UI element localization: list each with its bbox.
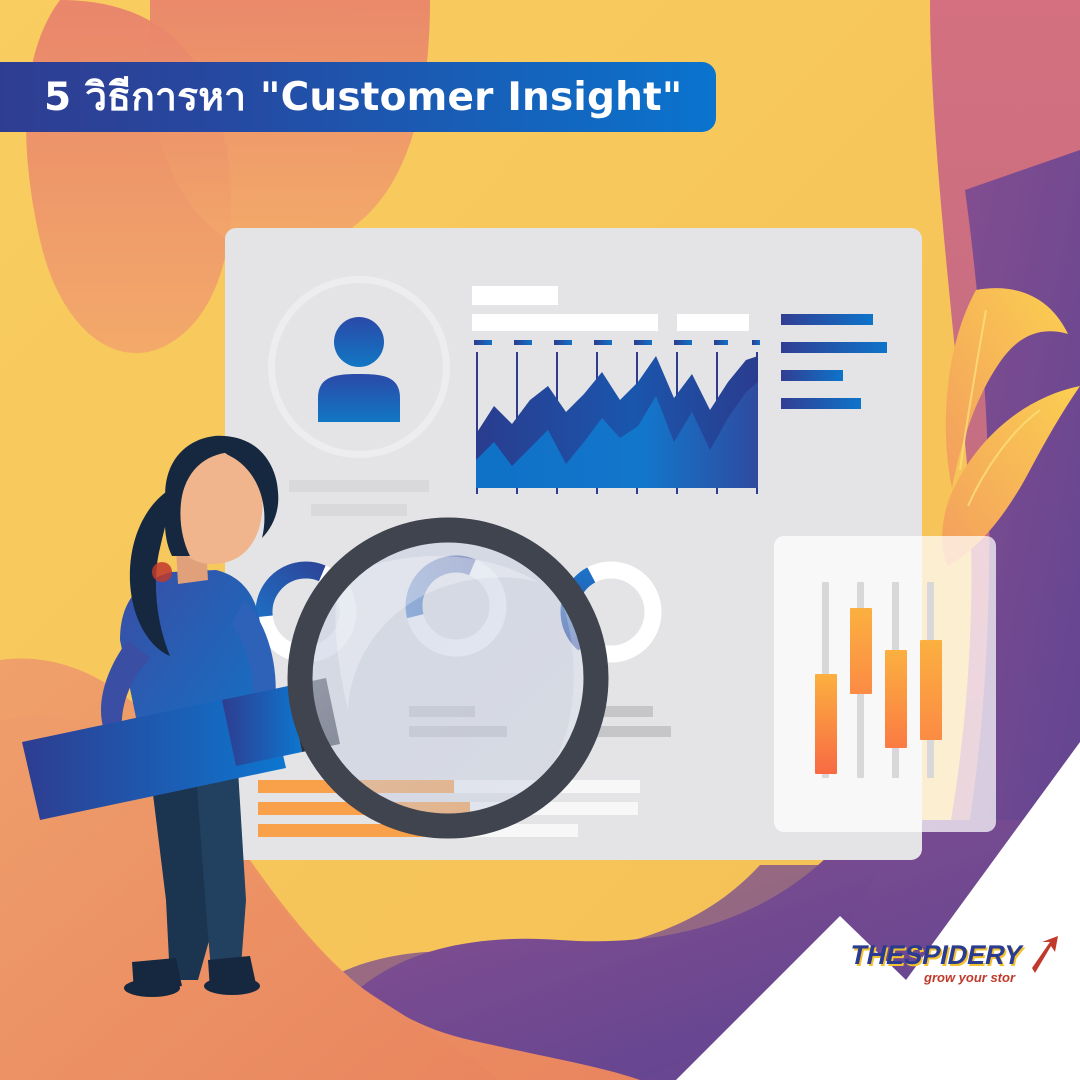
logo-the: THE xyxy=(848,939,909,970)
brand-logo: THE THE SPIDERY SPIDERY grow your stor xyxy=(836,930,1064,1002)
user-avatar-icon xyxy=(308,316,410,422)
legend-bar xyxy=(781,314,873,325)
legend-bar xyxy=(781,398,861,409)
candle-body xyxy=(850,608,872,694)
page-title: 5 วิธีการหา "Customer Insight" xyxy=(44,66,682,128)
legend-bar xyxy=(781,342,887,353)
candlestick-panel xyxy=(774,536,996,832)
avatar-subtitle-placeholder xyxy=(311,504,407,516)
list-item xyxy=(259,726,289,737)
list-item xyxy=(589,726,671,737)
candle-body xyxy=(815,674,837,774)
logo-spidery: SPIDERY xyxy=(902,939,1026,970)
chart-subtitle-placeholder xyxy=(472,314,658,331)
title-banner: 5 วิธีการหา "Customer Insight" xyxy=(0,62,716,132)
chart-meta-placeholder xyxy=(677,314,749,331)
list-item xyxy=(259,706,315,717)
donut-chart-2 xyxy=(400,550,512,662)
logo-tagline: grow your stor xyxy=(923,970,1016,985)
progress-fill xyxy=(258,780,454,793)
candle-body xyxy=(920,640,942,740)
chart-title-placeholder xyxy=(472,286,558,305)
donut-chart-3 xyxy=(555,556,667,668)
progress-fill xyxy=(258,824,436,837)
poster-canvas: 5 วิธีการหา "Customer Insight" xyxy=(0,0,1080,1080)
area-chart xyxy=(472,338,762,493)
avatar-name-placeholder xyxy=(289,480,429,492)
donut-chart-1 xyxy=(250,556,362,668)
list-item xyxy=(409,726,507,737)
list-item xyxy=(589,706,653,717)
candle-body xyxy=(885,650,907,748)
progress-fill xyxy=(258,802,470,815)
legend-bar xyxy=(781,370,843,381)
list-item xyxy=(409,706,475,717)
